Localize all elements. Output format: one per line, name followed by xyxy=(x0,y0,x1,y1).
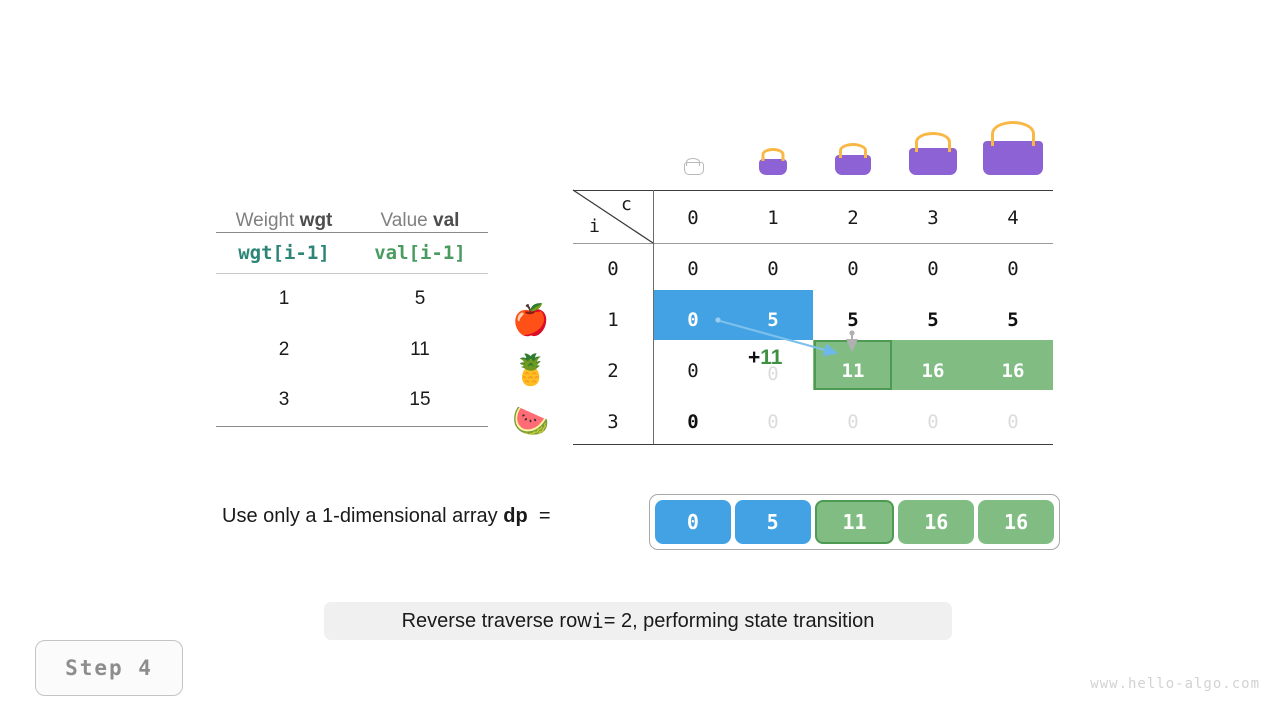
table-row: 1 5 xyxy=(216,274,488,325)
step-badge: Step 4 xyxy=(35,640,183,696)
dp-array-equals: = xyxy=(539,505,551,527)
dp-1d-array: 0 5 11 16 16 xyxy=(649,494,1060,550)
blue-transition-arrow xyxy=(720,321,836,353)
dp-array-var: dp xyxy=(503,505,527,527)
dp-array-cell-0[interactable]: 0 xyxy=(655,500,731,544)
table-rule-bottom xyxy=(216,426,488,427)
cell-val-3: 15 xyxy=(352,389,488,411)
pineapple-icon: 🍍 xyxy=(509,349,553,393)
caption-var-i: i xyxy=(592,609,604,633)
bag-size-2-icon xyxy=(813,145,893,180)
cell-wgt-1: 1 xyxy=(216,288,352,310)
watermelon-icon: 🍉 xyxy=(509,400,553,444)
cell-val-1: 5 xyxy=(352,288,488,310)
weight-value-table: Weight wgt Value val wgt[i-1] val[i-1] 1… xyxy=(216,196,488,427)
table-row: 3 15 xyxy=(216,375,488,426)
subheader-val-expr: val[i-1] xyxy=(352,242,488,264)
left-table-subheader-row: wgt[i-1] val[i-1] xyxy=(216,233,488,273)
dp-array-cell-2[interactable]: 11 xyxy=(815,500,895,544)
dp-array-label-text: Use only a 1-dimensional array xyxy=(222,505,503,527)
watermark: www.hello-algo.com xyxy=(1090,676,1260,692)
subheader-wgt-expr: wgt[i-1] xyxy=(216,242,352,264)
cell-wgt-3: 3 xyxy=(216,389,352,411)
dp-array-cell-1[interactable]: 5 xyxy=(735,500,811,544)
caption-text-part1: Reverse traverse row xyxy=(402,610,592,633)
dp-array-cell-4[interactable]: 16 xyxy=(978,500,1054,544)
cell-wgt-2: 2 xyxy=(216,339,352,361)
header-value: Value val xyxy=(352,210,488,232)
bag-empty-icon xyxy=(653,159,733,180)
caption-text-part2: = 2, performing state transition xyxy=(604,610,875,633)
left-table-header-row: Weight wgt Value val xyxy=(216,196,488,232)
header-weight: Weight wgt xyxy=(216,210,352,232)
table-row: 2 11 xyxy=(216,325,488,376)
bag-size-3-icon xyxy=(893,135,973,180)
dp-matrix-table: c i 0 1 2 3 4 0 1 2 3 0 0 0 0 0 0 5 5 5 … xyxy=(573,190,1053,446)
caption-banner: Reverse traverse row i = 2, performing s… xyxy=(324,602,952,640)
transition-arrows xyxy=(573,190,1053,446)
bag-size-4-icon xyxy=(973,125,1053,180)
dp-array-label: Use only a 1-dimensional array dp = xyxy=(222,505,551,528)
dp-array-cell-3[interactable]: 16 xyxy=(898,500,974,544)
apple-icon: 🍎 xyxy=(509,299,553,343)
cell-val-2: 11 xyxy=(352,339,488,361)
bag-capacity-icon-row xyxy=(653,122,1053,180)
bag-size-1-icon xyxy=(733,151,813,180)
